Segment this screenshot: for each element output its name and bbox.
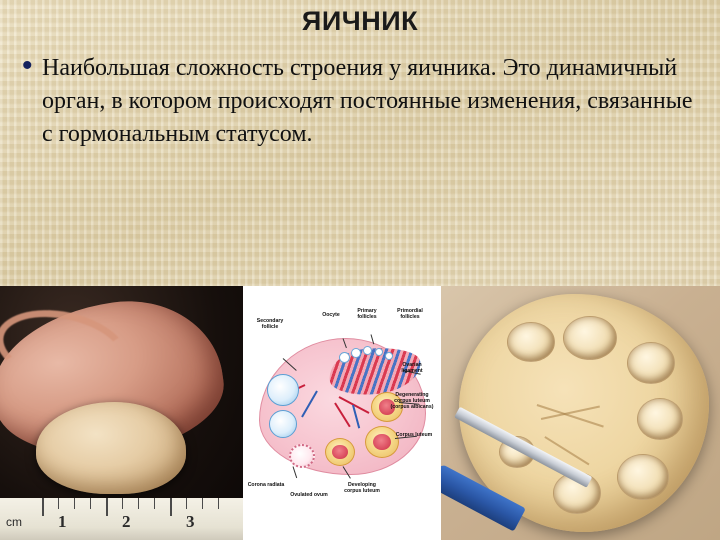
follicular-cyst — [617, 454, 669, 500]
bullet-text: Наибольшая сложность строения у яичника.… — [42, 52, 708, 151]
diagram-label-primordial-follicles: Primordial follicles — [389, 308, 431, 320]
leader-line — [293, 466, 298, 478]
ruler-unit-label: cm — [6, 515, 22, 529]
ovulated-ovum — [289, 444, 315, 468]
follicular-cyst — [563, 316, 617, 360]
ruler-number-1: 1 — [58, 512, 67, 532]
bullet-paragraph: • Наибольшая сложность строения у яичник… — [22, 52, 708, 151]
primary-follicle — [339, 352, 350, 363]
corpus-luteum — [365, 426, 399, 458]
diagram-label-corona-radiata: Corona radiata — [245, 482, 287, 488]
follicular-cyst — [627, 342, 675, 384]
sectioned-ovary-photo-with-forceps — [441, 286, 720, 540]
ruler-number-3: 3 — [186, 512, 195, 532]
developing-corpus-luteum — [325, 438, 355, 466]
diagram-label-secondary-follicle: Secondary follicle — [249, 318, 291, 330]
specimen-strand — [0, 299, 136, 399]
primordial-follicle — [375, 348, 383, 356]
specimen-ovary-lobe — [36, 402, 186, 494]
slide: ЯИЧНИК • Наибольшая сложность строения у… — [0, 0, 720, 540]
primary-follicle — [351, 348, 361, 358]
follicular-cyst — [637, 398, 683, 440]
diagram-label-developing-corpus-luteum: Developing corpus luteum — [339, 482, 385, 494]
bullet-text-tail: гормональным статусом. — [59, 121, 313, 147]
gross-ovary-specimen-photo: cm 1 2 3 — [0, 286, 243, 540]
ruler: cm 1 2 3 — [0, 498, 243, 540]
diagram-label-degenerating-corpus-luteum: Degenerating corpus luteum (corpus albic… — [389, 392, 435, 411]
antral-follicle — [269, 410, 297, 438]
image-strip: cm 1 2 3 — [0, 286, 720, 540]
diagram-label-ovarian-ligament: Ovarian ligament — [391, 362, 433, 374]
diagram-label-oocyte: Oocyte — [315, 312, 347, 318]
ruler-number-2: 2 — [122, 512, 131, 532]
bullet-marker: • — [22, 52, 42, 80]
secondary-follicle — [267, 374, 299, 406]
ovary-anatomy-diagram: Secondary follicle Oocyte Primary follic… — [243, 286, 441, 540]
primordial-follicle — [363, 346, 372, 355]
page-title: ЯИЧНИК — [0, 6, 720, 37]
diagram-label-corpus-luteum: Corpus luteum — [393, 432, 435, 438]
diagram-label-primary-follicles: Primary follicles — [349, 308, 385, 320]
follicular-cyst — [507, 322, 555, 362]
primordial-follicle — [385, 352, 393, 360]
diagram-label-ovulated-ovum: Ovulated ovum — [287, 492, 331, 498]
